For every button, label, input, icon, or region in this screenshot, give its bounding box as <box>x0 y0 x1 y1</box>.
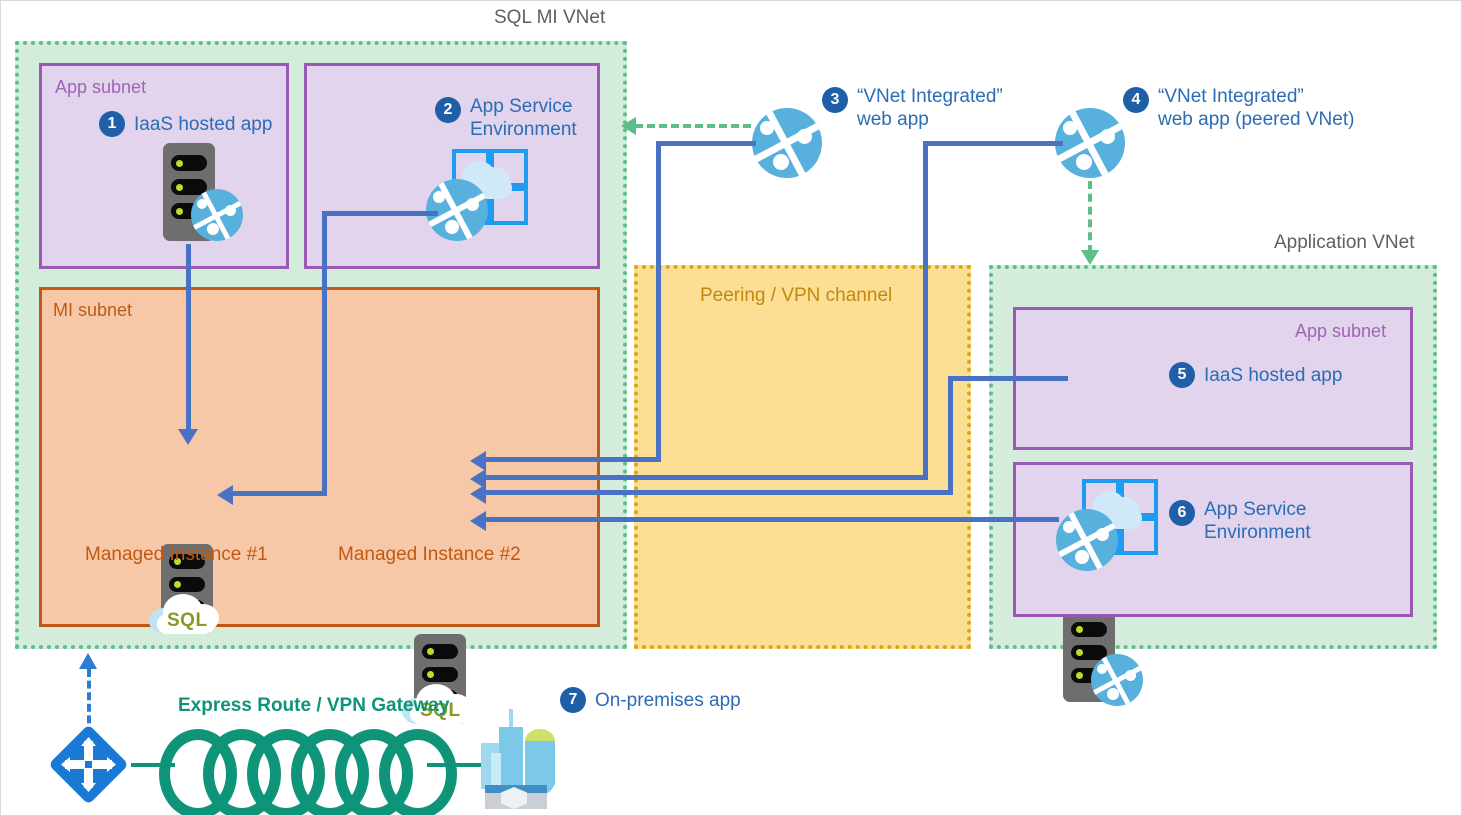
globe-icon <box>752 108 822 178</box>
connector-4-webapp-v <box>923 141 928 479</box>
green-dashed-connector-4 <box>1088 181 1092 253</box>
arrowhead-left <box>470 511 486 531</box>
arrowhead-left <box>470 484 486 504</box>
connector-2-ase-h-bottom <box>233 491 327 496</box>
item-7-label: On-premises app <box>595 689 741 712</box>
item-4-label: “VNet Integrated” web app (peered VNet) <box>1158 85 1354 131</box>
item-3-badge: 3 <box>822 87 848 113</box>
connector-4-webapp-h-top <box>923 141 1063 146</box>
diagram-canvas: SQL MI VNet Application VNet App subnet … <box>0 0 1462 816</box>
sql-mi-vnet-title: SQL MI VNet <box>494 7 605 29</box>
item-5-badge: 5 <box>1169 362 1195 388</box>
item-6-label: App Service Environment <box>1204 498 1311 544</box>
managed-instance-2-label: Managed Instance #2 <box>338 544 521 566</box>
item-2-badge: 2 <box>435 97 461 123</box>
vpn-gateway-icon <box>43 719 133 809</box>
item-7-badge: 7 <box>560 687 586 713</box>
item-2-group: 2 App Service Environment <box>435 95 577 141</box>
on-premises-building-icon <box>479 701 583 809</box>
globe-icon <box>191 189 243 241</box>
sql-text: SQL <box>167 610 208 632</box>
item-5-label: IaaS hosted app <box>1204 364 1342 387</box>
app-service-environment-icon <box>426 149 526 245</box>
peering-vpn-channel-box <box>634 265 971 649</box>
connector-3-webapp-h-top <box>656 141 756 146</box>
connector-5-iaas-h-bottom <box>486 490 953 495</box>
item-6-group: 6 App Service Environment <box>1169 498 1311 544</box>
connector-2-ase-h-top <box>322 211 438 216</box>
globe-icon <box>1055 108 1125 178</box>
connector-6-ase-h <box>486 517 1059 522</box>
item-3-label: “VNet Integrated” web app <box>857 85 1003 131</box>
item-6-badge: 6 <box>1169 500 1195 526</box>
arrowhead-up-blue <box>79 653 97 669</box>
connector-3-webapp-h-bottom <box>486 457 661 462</box>
connector-3-webapp-v <box>656 141 661 461</box>
application-vnet-title: Application VNet <box>1274 232 1414 254</box>
gateway-label: Express Route / VPN Gateway <box>178 695 449 717</box>
express-route-coil-icon <box>131 719 491 809</box>
arrowhead-down-green <box>1081 250 1099 265</box>
item-1-label: IaaS hosted app <box>134 113 272 136</box>
connector-5-iaas-v <box>948 376 953 494</box>
app-service-environment-icon <box>1056 479 1156 575</box>
item-2-label: App Service Environment <box>470 95 577 141</box>
item-1-group: 1 IaaS hosted app <box>99 111 272 137</box>
item-1-badge: 1 <box>99 111 125 137</box>
subnet-right-app-label: App subnet <box>1295 321 1386 342</box>
item-3-group: 3 “VNet Integrated” web app <box>822 85 1003 131</box>
item-7-group: 7 On-premises app <box>560 687 741 713</box>
arrowhead-left-green <box>621 117 636 135</box>
connector-4-webapp-h-bottom <box>486 475 928 480</box>
connector-2-ase-v <box>322 211 327 496</box>
server-globe-icon <box>1063 612 1115 702</box>
globe-icon <box>1091 654 1143 706</box>
peering-vpn-channel-label: Peering / VPN channel <box>700 285 892 307</box>
item-4-badge: 4 <box>1123 87 1149 113</box>
connector-1-iaas-to-mi1 <box>186 244 191 434</box>
globe-icon <box>426 179 488 241</box>
arrowhead-down <box>178 429 198 445</box>
server-globe-icon <box>163 143 215 241</box>
subnet-mi-label: MI subnet <box>53 300 132 321</box>
managed-instance-1-label: Managed Instance #1 <box>85 544 268 566</box>
connector-5-iaas-h-top <box>948 376 1068 381</box>
subnet-left-app-label: App subnet <box>55 77 146 98</box>
arrowhead-left <box>470 451 486 471</box>
green-dashed-connector-3 <box>635 124 751 128</box>
globe-icon <box>1056 509 1118 571</box>
arrowhead-left <box>217 485 233 505</box>
item-4-group: 4 “VNet Integrated” web app (peered VNet… <box>1123 85 1354 131</box>
item-5-group: 5 IaaS hosted app <box>1169 362 1342 388</box>
